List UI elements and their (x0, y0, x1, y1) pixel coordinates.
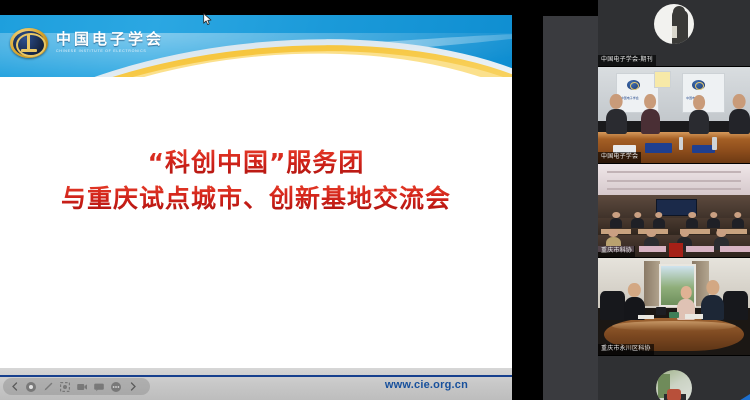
participant-tile-2[interactable]: 中国电子学会 中国电子学会 中国电子学会 (598, 67, 750, 163)
subtitles-button[interactable] (92, 380, 106, 394)
video-feed (598, 258, 750, 355)
participant-tile-3[interactable]: 重庆市科协 (598, 164, 750, 257)
presentation-slide[interactable]: 中国电子学会 CHINESE INSTITUTE OF ELECTRONICS … (0, 15, 512, 400)
slide-title-line-2: 与重庆试点城市、创新基地交流会 (0, 181, 512, 217)
meeting-window: 中国电子学会 CHINESE INSTITUTE OF ELECTRONICS … (0, 0, 750, 400)
organization-name-cn: 中国电子学会 (56, 32, 164, 47)
participant-name-label: 中国电子学会 (598, 152, 641, 163)
cie-emblem-icon (10, 28, 48, 58)
zoom-slide-button[interactable] (58, 380, 72, 394)
participant-name-label: 重庆市永川区科协 (598, 344, 654, 355)
laser-pointer-button[interactable] (24, 380, 38, 394)
mouse-pointer-icon (203, 13, 212, 26)
slide-title-line-1: “科创中国”服务团 (0, 145, 512, 181)
previous-slide-button[interactable] (7, 380, 21, 394)
cie-logo: 中国电子学会 CHINESE INSTITUTE OF ELECTRONICS (10, 28, 164, 58)
footer-website-url: www.cie.org.cn (385, 379, 468, 391)
pen-annotate-button[interactable] (41, 380, 55, 394)
next-slide-button[interactable] (126, 380, 140, 394)
participant-name-label: 中国电子学会-期刊 (598, 55, 656, 66)
footer-divider (0, 375, 512, 377)
participant-name-label: 重庆市科协 (598, 246, 635, 257)
more-options-button[interactable] (109, 380, 123, 394)
video-feed (598, 164, 750, 257)
shared-screen-region[interactable]: 中国电子学会 CHINESE INSTITUTE OF ELECTRONICS … (0, 0, 520, 400)
presenter-toolbar[interactable] (3, 378, 150, 395)
slide-header-banner: 中国电子学会 CHINESE INSTITUTE OF ELECTRONICS (0, 15, 512, 77)
participant-filmstrip[interactable]: 中国电子学会-期刊 中国电子学会 中国电子学会 (598, 0, 750, 400)
tile-corner-accent (734, 394, 750, 400)
video-feed: 中国电子学会 中国电子学会 (598, 67, 750, 163)
participant-tile-5[interactable] (598, 356, 750, 400)
organization-name-en: CHINESE INSTITUTE OF ELECTRONICS (56, 50, 164, 54)
stage-background-filler (543, 16, 598, 400)
person-photo-avatar (656, 370, 692, 400)
presenter-view-button[interactable] (75, 380, 89, 394)
slide-title: “科创中国”服务团 与重庆试点城市、创新基地交流会 (0, 145, 512, 216)
person-photo-avatar (654, 4, 694, 44)
participant-tile-1[interactable]: 中国电子学会-期刊 (598, 0, 750, 66)
participant-tile-4[interactable]: 重庆市永川区科协 (598, 258, 750, 355)
